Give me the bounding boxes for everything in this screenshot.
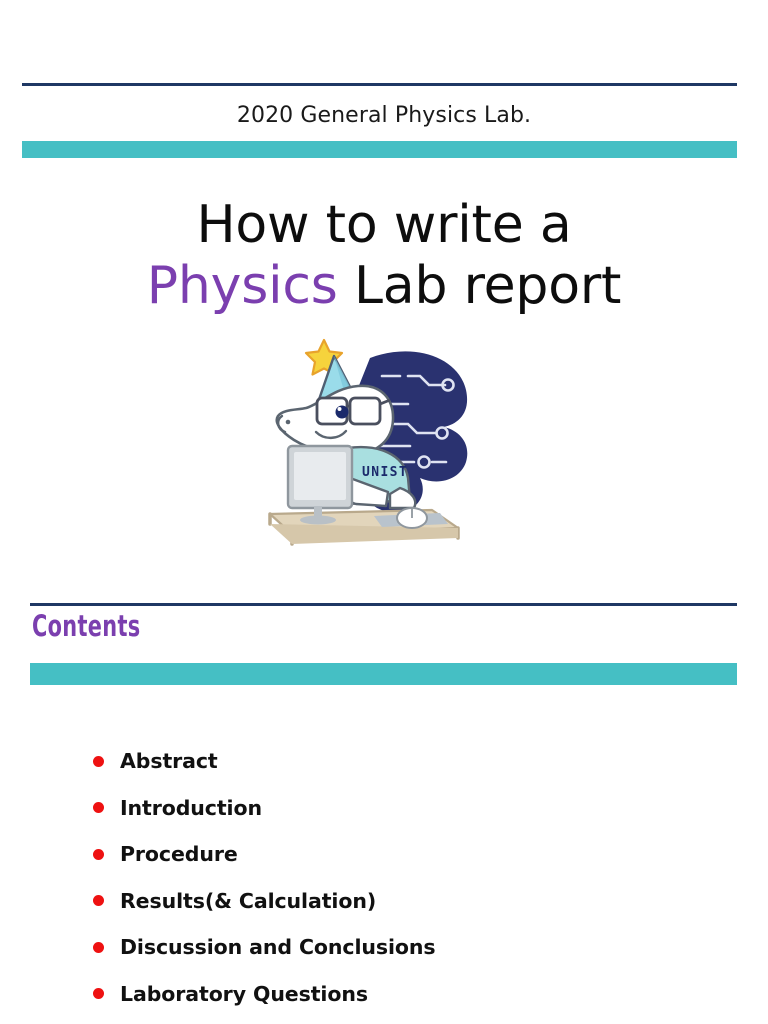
list-item-label: Introduction: [120, 796, 262, 820]
list-item-label: Discussion and Conclusions: [120, 935, 435, 959]
bullet-icon: [93, 988, 104, 999]
main-title-line2: Physics Lab report: [0, 256, 768, 317]
list-item[interactable]: Reference: [93, 1017, 523, 1024]
title-top-rule: [22, 83, 737, 86]
main-title-remainder: Lab report: [338, 256, 622, 316]
list-item-label: Abstract: [120, 749, 218, 773]
contents-list: Abstract Introduction Procedure Results(…: [93, 738, 523, 1024]
contents-slide: Contents Abstract Introduction Procedure…: [0, 590, 768, 1024]
contents-teal-bar: [30, 663, 737, 685]
course-heading: 2020 General Physics Lab.: [0, 103, 768, 128]
main-title-line1: How to write a: [0, 195, 768, 256]
list-item[interactable]: Discussion and Conclusions: [93, 924, 523, 971]
list-item[interactable]: Laboratory Questions: [93, 971, 523, 1018]
bullet-icon: [93, 756, 104, 767]
list-item[interactable]: Procedure: [93, 831, 523, 878]
list-item[interactable]: Abstract: [93, 738, 523, 785]
list-item-label: Laboratory Questions: [120, 982, 368, 1006]
contents-heading: Contents: [32, 609, 141, 643]
bullet-icon: [93, 942, 104, 953]
main-title-accent-word: Physics: [147, 256, 338, 316]
contents-top-rule: [30, 603, 737, 606]
title-teal-bar: [22, 141, 737, 158]
list-item-label: Procedure: [120, 842, 238, 866]
list-item[interactable]: Introduction: [93, 785, 523, 832]
presentation-page: 2020 General Physics Lab. How to write a…: [0, 0, 768, 1024]
list-item-label: Results(& Calculation): [120, 889, 376, 913]
bullet-icon: [93, 849, 104, 860]
mascot-shirt-label: UNIST: [362, 465, 408, 480]
title-slide: 2020 General Physics Lab. How to write a…: [0, 0, 768, 590]
list-item[interactable]: Results(& Calculation): [93, 878, 523, 925]
bullet-icon: [93, 895, 104, 906]
unicorn-at-desk-illustration: UNIST: [262, 328, 488, 550]
bullet-icon: [93, 802, 104, 813]
page-title: How to write a Physics Lab report: [0, 195, 768, 318]
